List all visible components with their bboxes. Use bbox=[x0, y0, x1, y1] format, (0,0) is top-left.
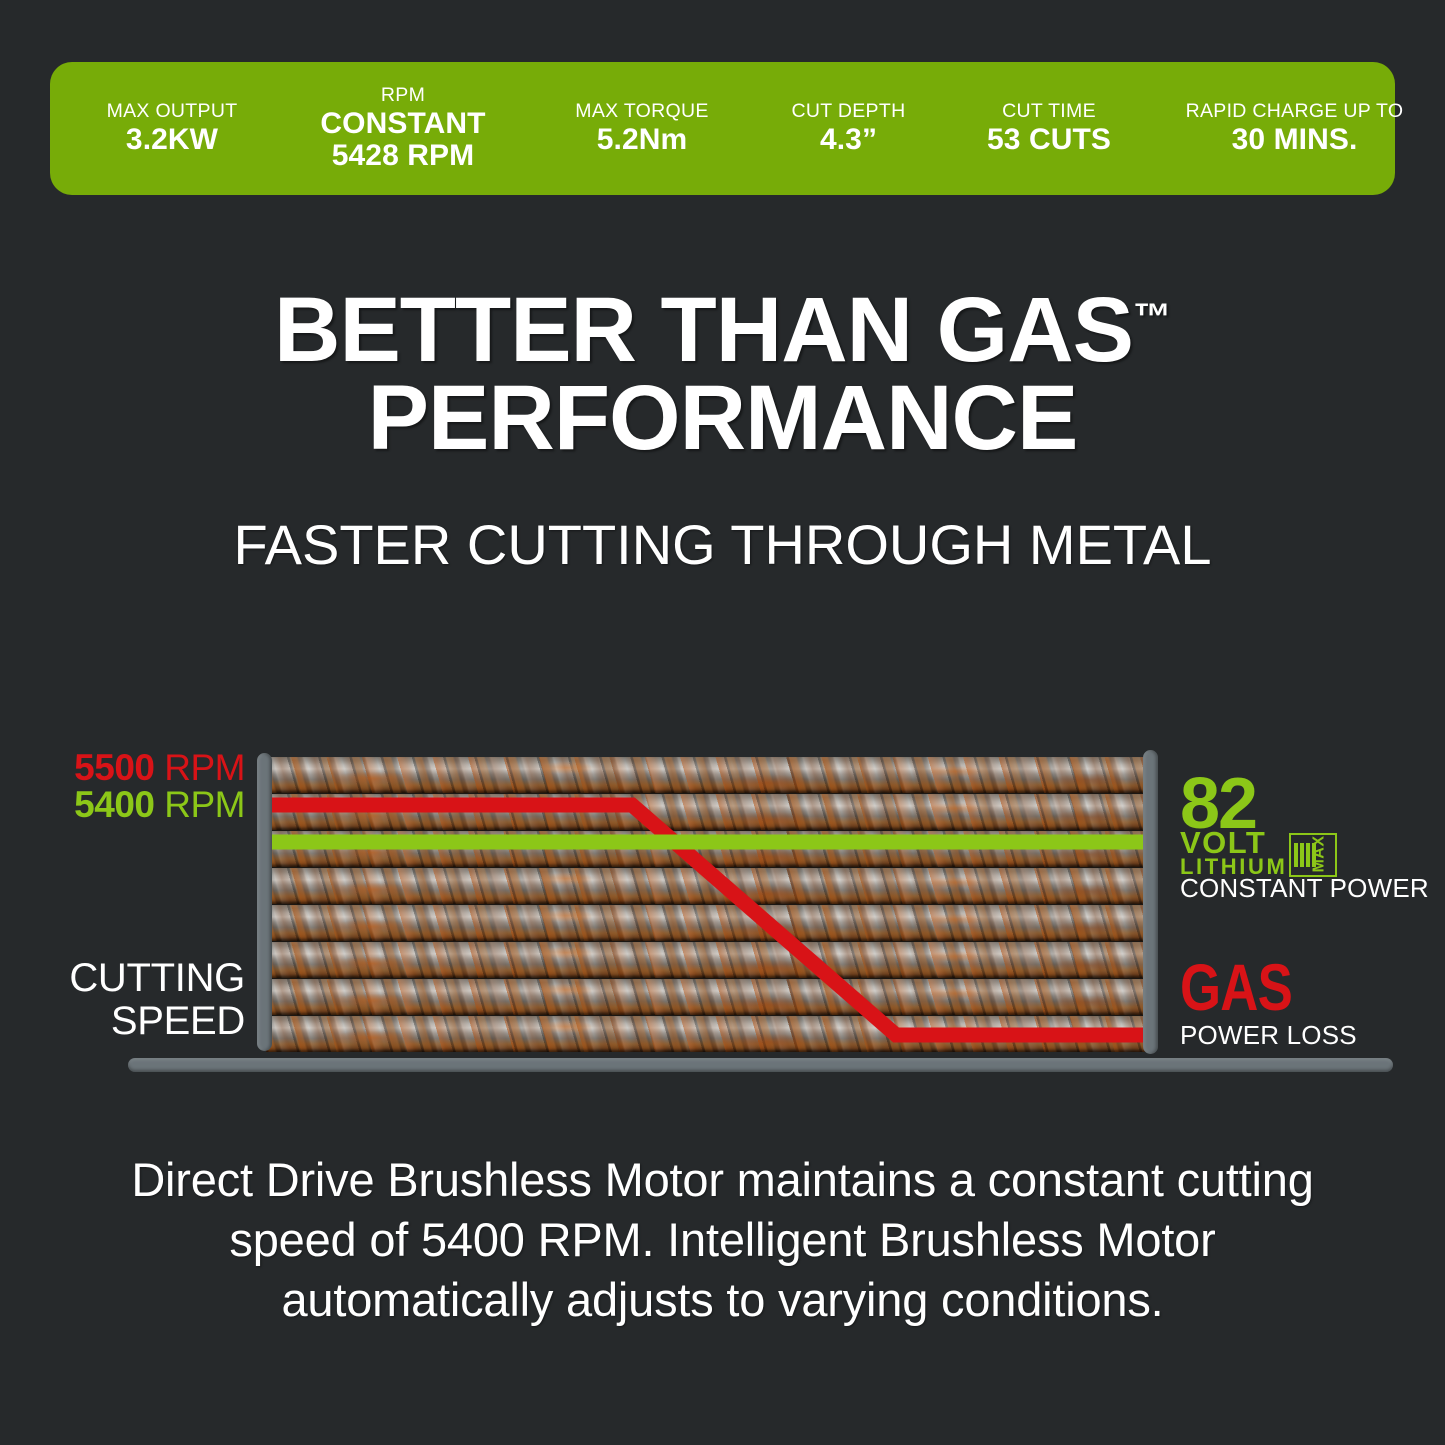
plot-area bbox=[266, 757, 1150, 1052]
volt-sub-row: VOLT LITHIUM MAX bbox=[1180, 830, 1420, 877]
y-axis-unit: RPM bbox=[164, 747, 245, 788]
trademark-symbol: ™ bbox=[1133, 296, 1171, 338]
y-axis-label-battery: 5400 RPM bbox=[30, 786, 245, 823]
spec-item-max-torque: MAX TORQUE 5.2Nm bbox=[532, 101, 752, 155]
page-subtitle: FASTER CUTTING THROUGH METAL bbox=[0, 512, 1445, 577]
spec-value: 3.2KW bbox=[74, 124, 270, 156]
spec-value-line-1: CONSTANT bbox=[278, 108, 528, 140]
lithium-label: LITHIUM bbox=[1180, 857, 1287, 877]
spec-value: CONSTANT 5428 RPM bbox=[278, 108, 528, 172]
spec-label: RPM bbox=[278, 85, 528, 106]
spec-value: 53 CUTS bbox=[949, 124, 1149, 156]
legend-caption-power-loss: POWER LOSS bbox=[1180, 1020, 1420, 1051]
spec-label: MAX TORQUE bbox=[536, 101, 748, 122]
spec-value-line-2: 5428 RPM bbox=[278, 140, 528, 172]
body-copy: Direct Drive Brushless Motor maintains a… bbox=[100, 1150, 1345, 1330]
volt-logo: 82 VOLT LITHIUM MAX bbox=[1180, 775, 1420, 865]
chart-baseline bbox=[128, 1058, 1393, 1072]
spec-item-rpm: RPM CONSTANT 5428 RPM bbox=[274, 85, 532, 171]
page-title: BETTER THAN GAS™ PERFORMANCE bbox=[0, 286, 1445, 463]
volt-label: VOLT bbox=[1180, 830, 1287, 856]
cutting-speed-chart: 5500 RPM 5400 RPM CUTTINGSPEED bbox=[0, 735, 1445, 1080]
legend-item-battery: 82 VOLT LITHIUM MAX CONSTANT POWER bbox=[1180, 775, 1420, 904]
y-axis-unit: RPM bbox=[164, 784, 245, 825]
spec-item-cut-depth: CUT DEPTH 4.3” bbox=[752, 101, 945, 155]
y-axis-title: CUTTINGSPEED bbox=[25, 957, 245, 1043]
headline-line-1: BETTER THAN GAS bbox=[274, 279, 1133, 381]
spec-label: CUT DEPTH bbox=[756, 101, 941, 122]
chart-post-left bbox=[257, 753, 272, 1051]
y-axis-value: 5400 bbox=[74, 784, 154, 825]
spec-bar: MAX OUTPUT 3.2KW RPM CONSTANT 5428 RPM M… bbox=[50, 62, 1395, 195]
y-axis-value: 5500 bbox=[74, 747, 154, 788]
max-badge-label: MAX bbox=[1311, 836, 1329, 873]
battery-icon: MAX bbox=[1289, 833, 1337, 877]
y-axis-label-gas: 5500 RPM bbox=[30, 749, 245, 786]
spec-label: CUT TIME bbox=[949, 101, 1149, 122]
spec-label: MAX OUTPUT bbox=[74, 101, 270, 122]
series-overlay bbox=[266, 757, 1150, 1052]
infographic-page: MAX OUTPUT 3.2KW RPM CONSTANT 5428 RPM M… bbox=[0, 0, 1445, 1445]
chart-post-right bbox=[1143, 750, 1158, 1054]
legend-item-gas: GAS POWER LOSS bbox=[1180, 960, 1420, 1051]
volt-words: VOLT LITHIUM bbox=[1180, 830, 1287, 877]
spec-item-rapid-charge: RAPID CHARGE UP TO 30 MINS. bbox=[1153, 101, 1436, 155]
spec-label: RAPID CHARGE UP TO bbox=[1157, 101, 1432, 122]
spec-value: 30 MINS. bbox=[1157, 124, 1432, 156]
spec-item-cut-time: CUT TIME 53 CUTS bbox=[945, 101, 1153, 155]
spec-value: 5.2Nm bbox=[536, 124, 748, 156]
spec-item-max-output: MAX OUTPUT 3.2KW bbox=[70, 101, 274, 155]
gas-label: GAS bbox=[1180, 960, 1372, 1014]
spec-value: 4.3” bbox=[756, 124, 941, 156]
headline-line-2: PERFORMANCE bbox=[368, 367, 1078, 469]
y-axis-labels: 5500 RPM 5400 RPM bbox=[30, 749, 245, 823]
